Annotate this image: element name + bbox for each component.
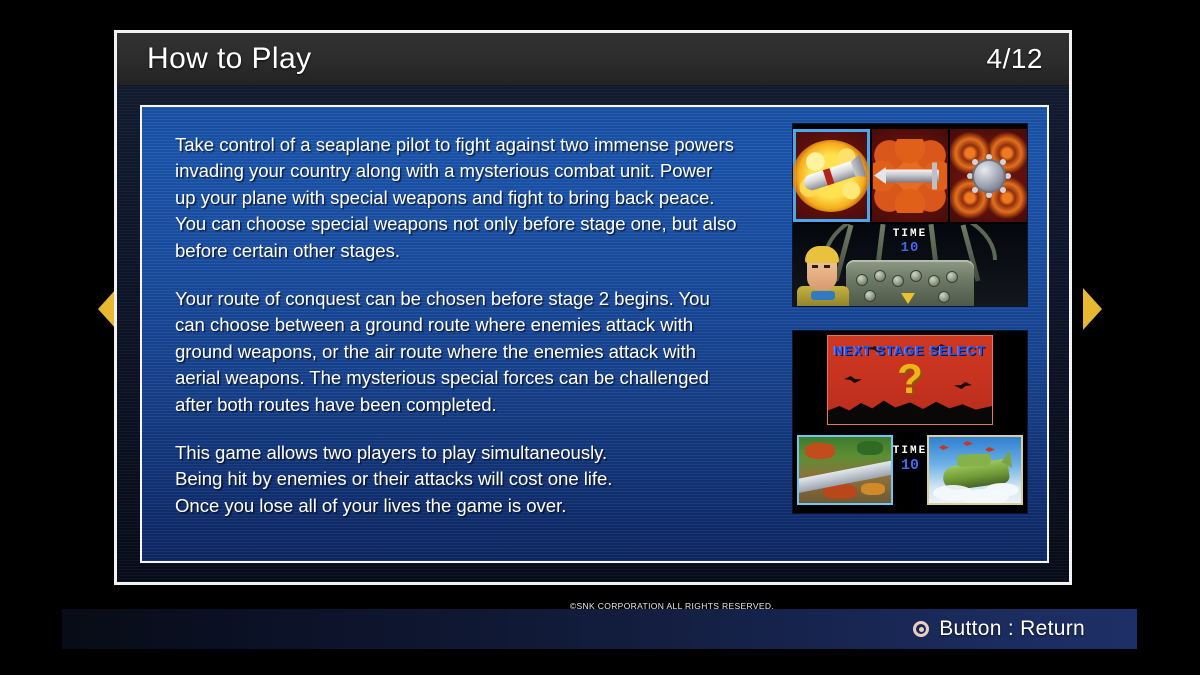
question-mark-icon: ?	[897, 358, 923, 400]
description-paragraph-1: Take control of a seaplane pilot to figh…	[175, 132, 780, 264]
enemy-plane-icon	[963, 441, 973, 446]
command-bar: Button : Return	[62, 609, 1137, 649]
circle-button-icon	[913, 621, 929, 637]
weapon-row	[793, 129, 1027, 222]
dial-icon	[928, 275, 940, 287]
route-option-ground	[797, 435, 893, 505]
pilot-eye	[824, 265, 830, 268]
enemy-plane-icon	[939, 445, 949, 450]
next-stage-banner: NEXT STAGE SELECT ?	[827, 335, 993, 425]
weapon-cell-mine	[950, 129, 1027, 222]
dial-icon	[856, 274, 868, 286]
screenshot-column: TIME 10	[792, 107, 1047, 561]
page-counter: 4/12	[987, 43, 1044, 75]
page-title: How to Play	[147, 42, 311, 76]
dial-icon	[892, 275, 904, 287]
dial-icon	[874, 270, 886, 282]
jet-silhouette-icon	[844, 376, 862, 383]
route-row: TIME 10	[793, 435, 1027, 507]
terrain-blob	[805, 443, 835, 459]
dial-icon	[946, 271, 958, 283]
description-column: Take control of a seaplane pilot to figh…	[142, 107, 792, 561]
pilot-eye	[812, 265, 818, 268]
how-to-play-window: How to Play 4/12 Take control of a seapl…	[114, 30, 1072, 585]
mine-icon	[974, 161, 1004, 191]
next-page-arrow-icon[interactable]	[1083, 288, 1102, 330]
gauge-icon	[901, 293, 915, 304]
cockpit-dashboard	[846, 260, 974, 307]
missile-icon	[881, 169, 939, 182]
dial-icon	[864, 290, 876, 302]
description-paragraph-3: This game allows two players to play sim…	[175, 440, 780, 519]
weapon-select-screenshot: TIME 10	[792, 123, 1028, 307]
return-button-hint[interactable]: Button : Return	[913, 617, 1085, 641]
terrain-blob	[861, 483, 885, 495]
content-area: Take control of a seaplane pilot to figh…	[117, 86, 1069, 582]
pilot-portrait	[797, 246, 849, 307]
return-hint-label: Button : Return	[939, 617, 1085, 641]
dial-icon	[910, 270, 922, 282]
info-panel: Take control of a seaplane pilot to figh…	[140, 105, 1049, 563]
weapon-cell-bomb	[793, 129, 870, 222]
weapon-cell-missile	[872, 129, 949, 222]
description-paragraph-2: Your route of conquest can be chosen bef…	[175, 286, 780, 418]
pilot-scarf	[811, 291, 835, 300]
pilot-hair	[805, 246, 839, 263]
enemy-plane-icon	[985, 447, 995, 452]
cloud-graphic	[959, 489, 1009, 505]
dial-icon	[938, 291, 950, 303]
jet-silhouette-icon	[954, 382, 972, 389]
time-label: TIME	[793, 228, 1027, 240]
route-option-air	[927, 435, 1023, 505]
window-title-bar: How to Play 4/12	[117, 33, 1069, 86]
next-stage-select-screenshot: NEXT STAGE SELECT ? TIME	[792, 330, 1028, 514]
cockpit-view: TIME 10	[793, 224, 1027, 307]
